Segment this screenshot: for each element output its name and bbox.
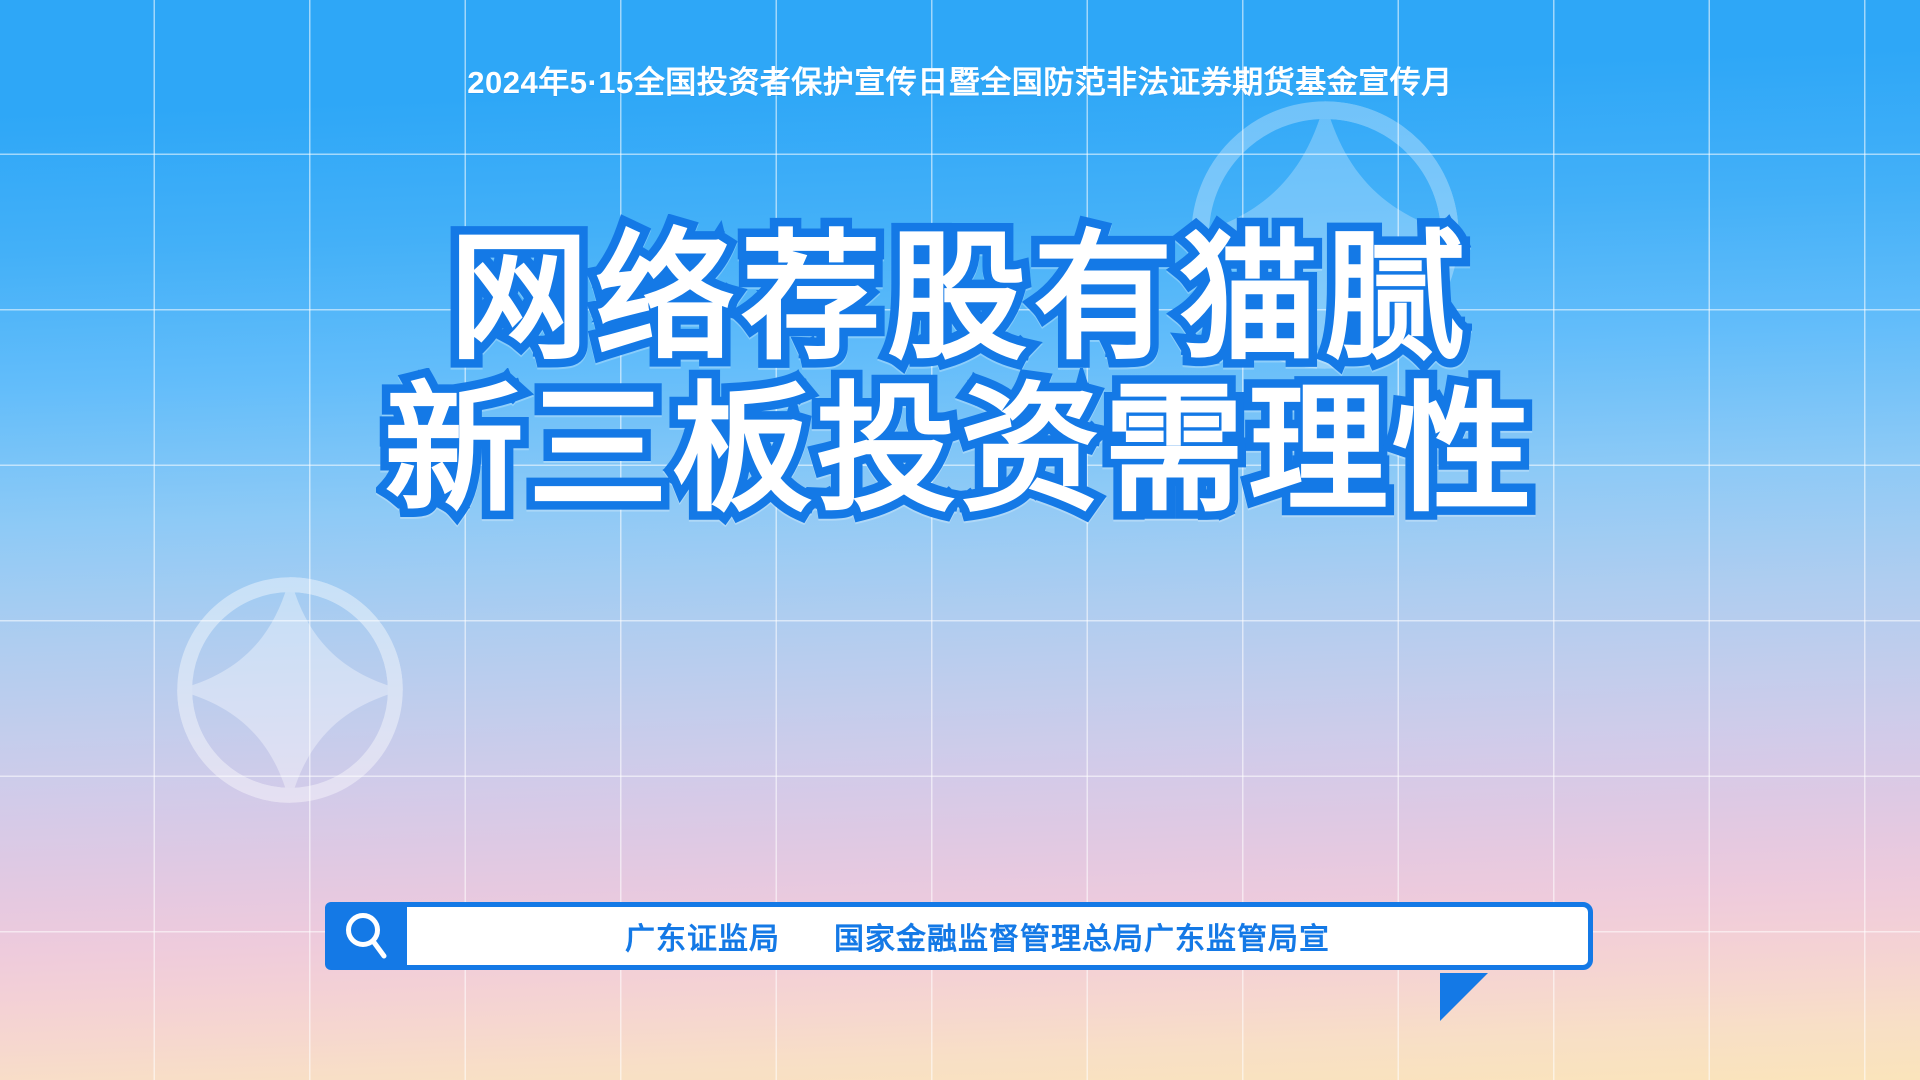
title-line-1: 网络荐股有猫腻 网络荐股有猫腻 — [0, 222, 1920, 374]
coin-flower-motif-bottom-left — [155, 555, 425, 825]
title-line-1-text: 网络荐股有猫腻 — [449, 219, 1471, 376]
main-title: 网络荐股有猫腻 网络荐股有猫腻 新三板投资需理性 新三板投资需理性 — [0, 222, 1920, 526]
signature-text: 广东证监局 国家金融监督管理总局广东监管局宣 — [407, 907, 1588, 965]
campaign-headline: 2024年5·15全国投资者保护宣传日暨全国防范非法证券期货基金宣传月 — [0, 57, 1920, 102]
signature-org-2: 国家金融监督管理总局广东监管局宣 — [834, 914, 1330, 958]
title-line-2: 新三板投资需理性 新三板投资需理性 — [0, 374, 1920, 526]
signature-plate: 广东证监局 国家金融监督管理总局广东监管局宣 — [325, 902, 1593, 970]
signature-plate-tail — [1440, 973, 1488, 1021]
poster-canvas: 2024年5·15全国投资者保护宣传日暨全国防范非法证券期货基金宣传月 网络荐股… — [0, 0, 1920, 1080]
title-line-2-text: 新三板投资需理性 — [384, 371, 1536, 528]
signature-org-1: 广东证监局 — [625, 914, 780, 958]
magnifier-icon — [325, 902, 407, 970]
